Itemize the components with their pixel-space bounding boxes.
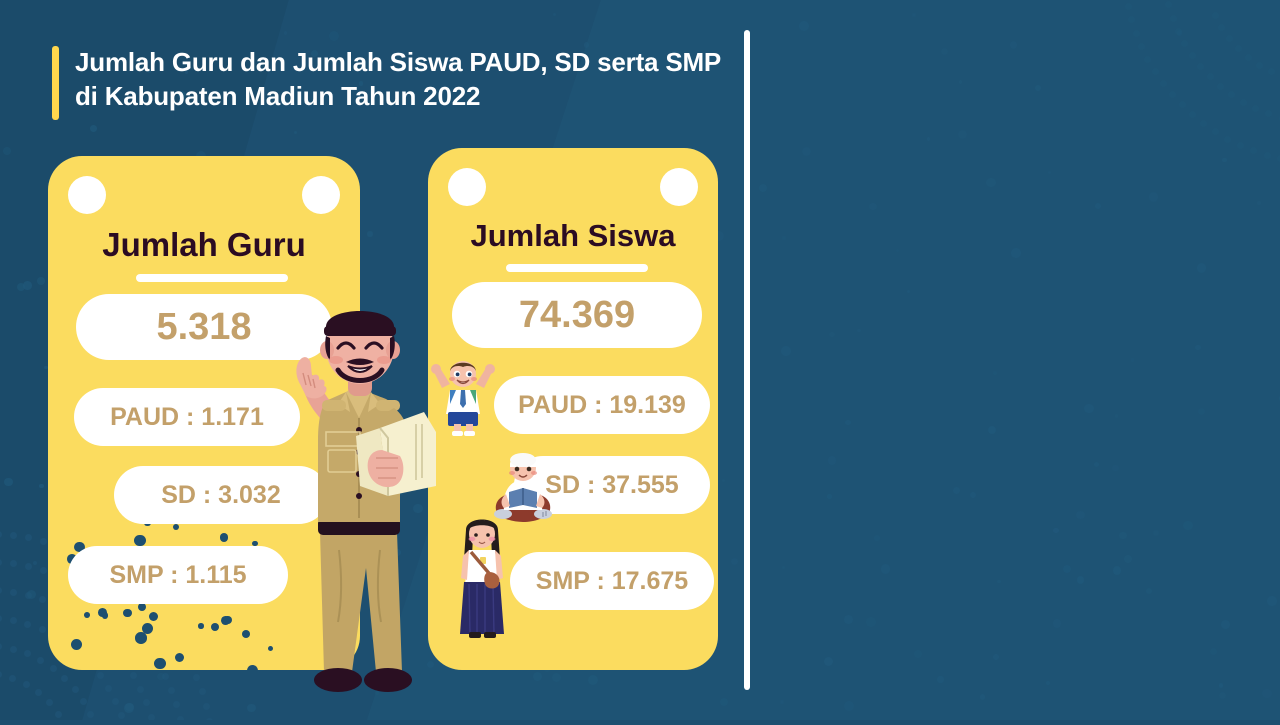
boy-student-illustration — [428, 358, 498, 438]
card-guru-item-paud: PAUD : 1.171 — [74, 388, 300, 446]
card-guru-heading: Jumlah Guru — [48, 226, 360, 264]
card-notch-right — [660, 168, 698, 206]
card-siswa-total: 74.369 — [452, 282, 702, 348]
right-panel: Jumlah Guru dan Jumlah Siswa jenjang pen… — [746, 0, 1280, 720]
girl-student-illustration — [447, 510, 517, 645]
left-panel-title: Jumlah Guru dan Jumlah Siswa PAUD, SD se… — [52, 46, 742, 120]
card-siswa-rule — [506, 264, 648, 272]
card-guru-rule — [136, 274, 288, 282]
card-guru-item-smp: SMP : 1.115 — [68, 546, 288, 604]
card-siswa-heading: Jumlah Siswa — [428, 218, 718, 254]
card-notch-left — [448, 168, 486, 206]
card-siswa-item-smp: SMP : 17.675 — [510, 552, 714, 610]
left-title-text: Jumlah Guru dan Jumlah Siswa PAUD, SD se… — [75, 46, 742, 114]
card-notch-left — [68, 176, 106, 214]
left-panel: Jumlah Guru dan Jumlah Siswa PAUD, SD se… — [0, 0, 746, 720]
card-notch-right — [302, 176, 340, 214]
card-siswa-item-paud: PAUD : 19.139 — [494, 376, 710, 434]
title-accent-bar — [52, 46, 59, 120]
